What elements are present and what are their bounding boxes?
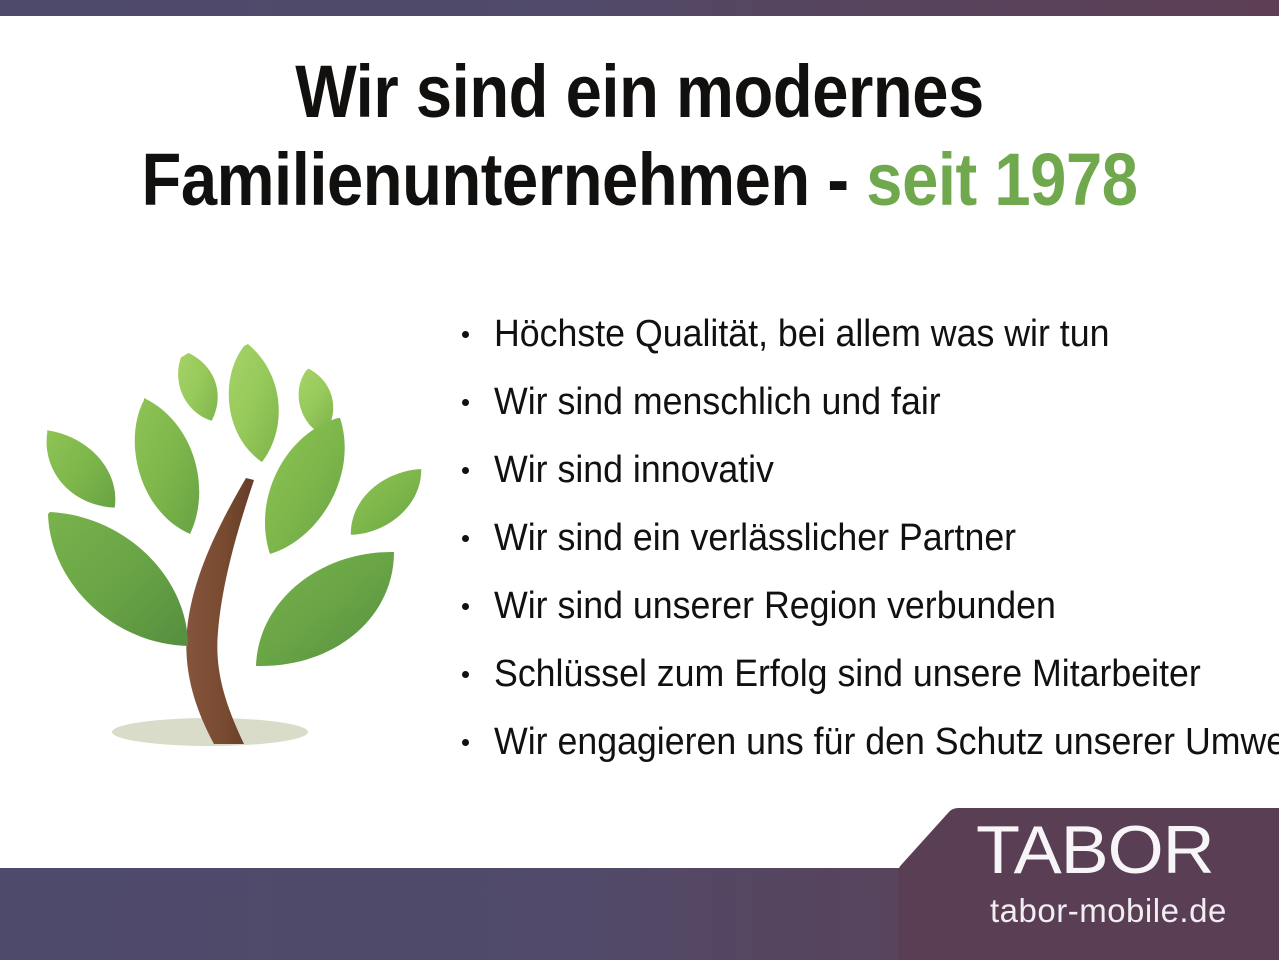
tree-leaf-lower-right (256, 552, 394, 666)
tree-leaf-mid-left (135, 398, 199, 534)
tree-leaf-mid-far-right (351, 467, 422, 537)
bullet-dot-icon (462, 399, 469, 406)
list-item-label: Wir engagieren uns für den Schutz unsere… (494, 708, 1279, 776)
headline-line-1-text: Wir sind ein modernes (295, 50, 984, 133)
slide-canvas: Wir sind ein modernes Familienunternehme… (0, 0, 1279, 960)
list-item-label: Schlüssel zum Erfolg sind unsere Mitarbe… (494, 640, 1201, 708)
tree-leaf-mid-far-left (46, 426, 117, 512)
list-item: Wir sind unserer Region verbunden (458, 572, 1268, 640)
bullet-dot-icon (462, 535, 469, 542)
bullet-dot-icon (462, 603, 469, 610)
headline-accent-text: seit 1978 (866, 138, 1137, 221)
page-title: Wir sind ein modernes Familienunternehme… (0, 48, 1279, 224)
tree-leaf-mid-right (265, 418, 345, 554)
brand-logo-panel[interactable]: TABOR tabor-mobile.de (880, 800, 1279, 960)
headline-line-1: Wir sind ein modernes (77, 48, 1203, 136)
headline-line-2: Familienunternehmen - seit 1978 (77, 136, 1203, 224)
headline-line-2-text: Familienunternehmen - (141, 138, 866, 221)
list-item: Höchste Qualität, bei allem was wir tun (458, 300, 1268, 368)
tree-leaf-lower-left (48, 512, 188, 646)
list-item-label: Wir sind unserer Region verbunden (494, 572, 1056, 640)
list-item: Schlüssel zum Erfolg sind unsere Mitarbe… (458, 640, 1268, 708)
bullet-dot-icon (462, 671, 469, 678)
bullet-dot-icon (462, 739, 469, 746)
brand-wordmark: TABOR (976, 816, 1214, 884)
brand-url: tabor-mobile.de (990, 894, 1227, 928)
list-item: Wir sind menschlich und fair (458, 368, 1268, 436)
tree-leaf-top-center (229, 344, 279, 462)
logo-panel-content: TABOR tabor-mobile.de (880, 800, 1279, 960)
list-item: Wir sind innovativ (458, 436, 1268, 504)
tree-trunk (186, 478, 254, 744)
list-item: Wir engagieren uns für den Schutz unsere… (458, 708, 1268, 776)
bullet-dot-icon (462, 467, 469, 474)
top-accent-bar (0, 0, 1279, 16)
list-item-label: Wir sind innovativ (494, 436, 774, 504)
bullet-dot-icon (462, 331, 469, 338)
list-item-label: Höchste Qualität, bei allem was wir tun (494, 300, 1109, 368)
tree-illustration (22, 330, 442, 760)
list-item-label: Wir sind menschlich und fair (494, 368, 941, 436)
value-bullet-list: Höchste Qualität, bei allem was wir tun … (458, 300, 1268, 776)
list-item: Wir sind ein verlässlicher Partner (458, 504, 1268, 572)
list-item-label: Wir sind ein verlässlicher Partner (494, 504, 1016, 572)
tree-leaf-top-left (176, 350, 221, 424)
